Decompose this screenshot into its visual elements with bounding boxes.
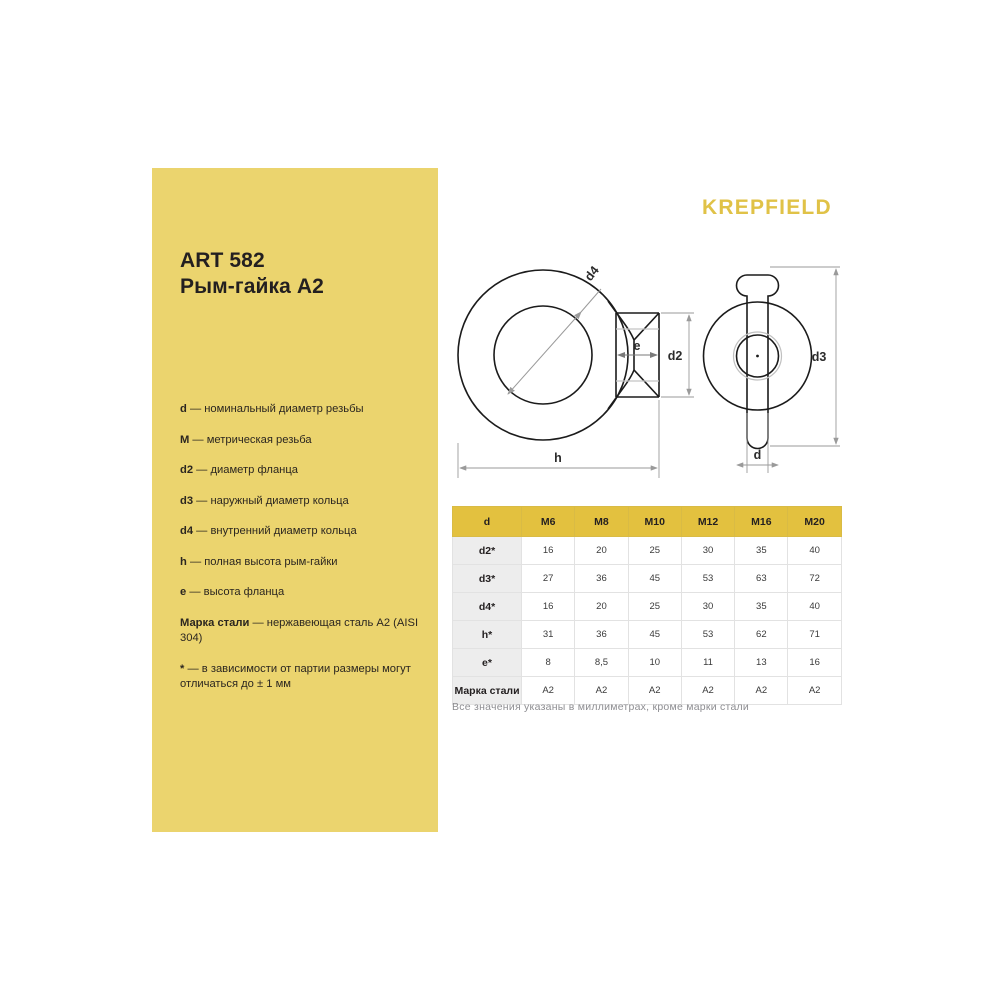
legend-symbol-h: h [180,556,187,568]
legend-text-d: — номинальный диаметр резьбы [187,403,364,415]
legend-symbol-d2: d2 [180,464,193,476]
table-cell: 16 [788,649,841,677]
legend-item-d2: d2 — диаметр фланца [180,463,424,478]
table-col-m20: M20 [788,507,841,537]
specification-table: d M6 M8 M10 M12 M16 M20 d2* 16 20 25 30 … [452,506,842,705]
row-label-d3: d3* [453,565,522,593]
page-title: ART 582 Рым-гайка A2 [180,248,420,300]
dimension-d [737,413,778,473]
table-cell: 53 [681,565,734,593]
table-cell: 10 [628,649,681,677]
table-col-m12: M12 [681,507,734,537]
table-col-m10: M10 [628,507,681,537]
legend-text-d4: — внутренний диаметр кольца [193,525,357,537]
table-note: Все значения указаны в миллиметрах, кром… [452,701,872,713]
front-view-drawing [704,275,812,449]
table-cell: 27 [522,565,575,593]
table-cell: 36 [575,565,628,593]
table-cell: 35 [735,537,788,565]
krepfield-logo: KREPFIELD [702,196,832,220]
title-product: Рым-гайка A2 [180,274,420,300]
table-cell: 25 [628,593,681,621]
legend-text-tolerance: — в зависимости от партии размеры могут … [180,663,411,690]
row-label-d2: d2* [453,537,522,565]
row-label-h: h* [453,621,522,649]
table-cell: 72 [788,565,841,593]
table-cell: 45 [628,565,681,593]
legend-item-d: d — номинальный диаметр резьбы [180,402,424,417]
table-cell: 53 [681,621,734,649]
legend-item-tolerance: * — в зависимости от партии размеры могу… [180,662,424,692]
legend-symbol-d4: d4 [180,525,193,537]
table-cell: 62 [735,621,788,649]
table-cell: 30 [681,537,734,565]
table-row: e* 8 8,5 10 11 13 16 [453,649,842,677]
dimension-label-e: e [634,339,641,353]
legend-item-m: M — метрическая резьба [180,433,424,448]
legend-symbol-m: M [180,434,189,446]
flange-cone-lower [634,370,659,397]
table-cell: 40 [788,593,841,621]
title-article: ART 582 [180,248,420,274]
legend-item-d4: d4 — внутренний диаметр кольца [180,524,424,539]
dimension-label-h: h [554,451,562,465]
table-row: h* 31 36 45 53 62 71 [453,621,842,649]
legend-text-d2: — диаметр фланца [193,464,298,476]
row-label-e: e* [453,649,522,677]
table-cell: 31 [522,621,575,649]
table-cell: 45 [628,621,681,649]
legend-symbol-d: d [180,403,187,415]
spec-sheet: ART 582 Рым-гайка A2 d — номинальный диа… [0,0,1000,1000]
legend-list: d — номинальный диаметр резьбы M — метри… [180,402,424,708]
table-cell: 35 [735,593,788,621]
dimension-label-d2: d2 [668,349,683,363]
legend-text-h: — полная высота рым-гайки [187,556,338,568]
table-cell: 20 [575,593,628,621]
legend-item-e: e — высота фланца [180,585,424,600]
info-panel: ART 582 Рым-гайка A2 d — номинальный диа… [152,168,438,832]
table-col-m16: M16 [735,507,788,537]
dimension-label-d3: d3 [812,350,827,364]
table-col-m8: M8 [575,507,628,537]
technical-drawing: d4 e d2 h [440,230,860,490]
table-cell: 16 [522,537,575,565]
dimension-label-d: d [754,448,762,462]
table-row: d2* 16 20 25 30 35 40 [453,537,842,565]
legend-text-e: — высота фланца [186,586,284,598]
table-cell: 20 [575,537,628,565]
table-cell: 30 [681,593,734,621]
table-cell: 8,5 [575,649,628,677]
legend-item-d3: d3 — наружный диаметр кольца [180,494,424,509]
row-label-d4: d4* [453,593,522,621]
table-col-m6: M6 [522,507,575,537]
legend-symbol-steel-grade: Марка стали [180,617,249,629]
legend-text-m: — метрическая резьба [189,434,311,446]
table-cell: 11 [681,649,734,677]
table-cell: 16 [522,593,575,621]
table-cell: 40 [788,537,841,565]
table-cell: 36 [575,621,628,649]
legend-item-steel-grade: Марка стали — нержавеющая сталь A2 (AISI… [180,616,424,646]
table-row: d4* 16 20 25 30 35 40 [453,593,842,621]
legend-text-d3: — наружный диаметр кольца [193,495,349,507]
table-header-row: d M6 M8 M10 M12 M16 M20 [453,507,842,537]
table-col-d: d [453,507,522,537]
center-mark-dot [756,355,759,358]
legend-item-h: h — полная высота рым-гайки [180,555,424,570]
dimension-d4 [508,289,601,394]
table-cell: 63 [735,565,788,593]
flange-cone-upper [634,313,659,340]
table-row: d3* 27 36 45 53 63 72 [453,565,842,593]
table-cell: 71 [788,621,841,649]
dimension-d3 [770,267,840,446]
legend-symbol-d3: d3 [180,495,193,507]
ring-band-outline [737,275,779,449]
table-cell: 25 [628,537,681,565]
table-cell: 13 [735,649,788,677]
table-cell: 8 [522,649,575,677]
